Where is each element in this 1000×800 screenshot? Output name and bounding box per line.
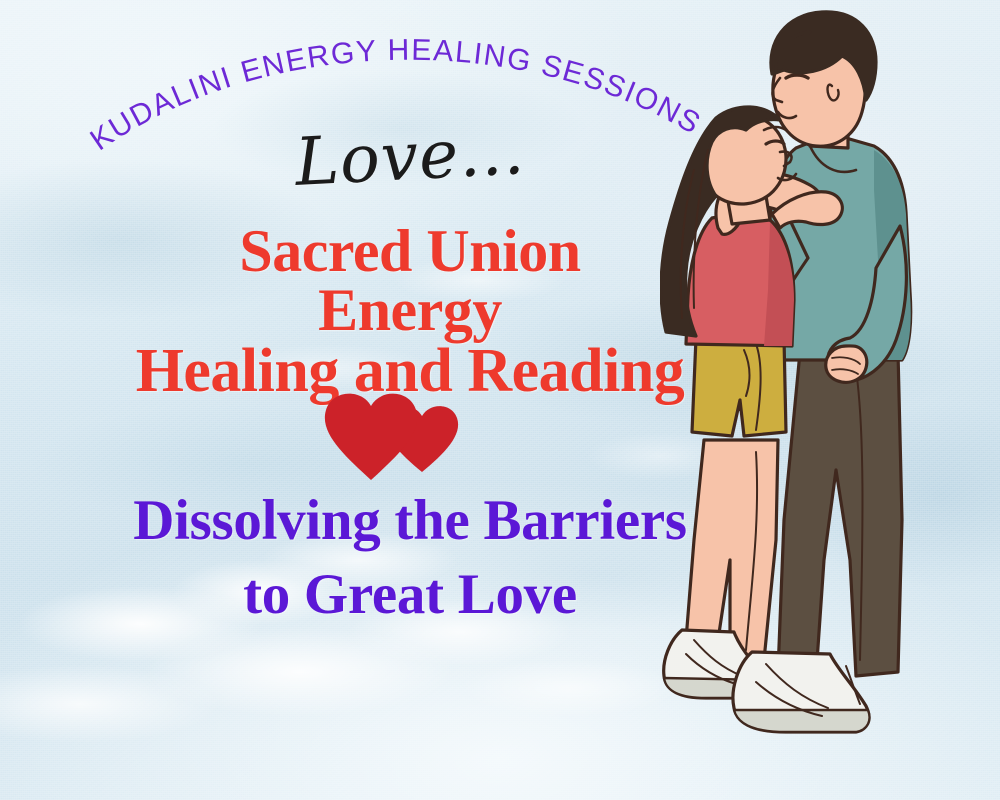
heart-shape-left [325,394,417,480]
double-heart-icon [318,392,468,492]
womans-legs [686,440,778,662]
womans-shorts [692,338,786,436]
mans-pants [778,352,902,676]
poster-canvas: KUDALINI ENERGY HEALING SESSIONS Love...… [0,0,1000,800]
mans-sneaker-sole [734,710,870,732]
embracing-couple-illustration [660,0,1000,800]
